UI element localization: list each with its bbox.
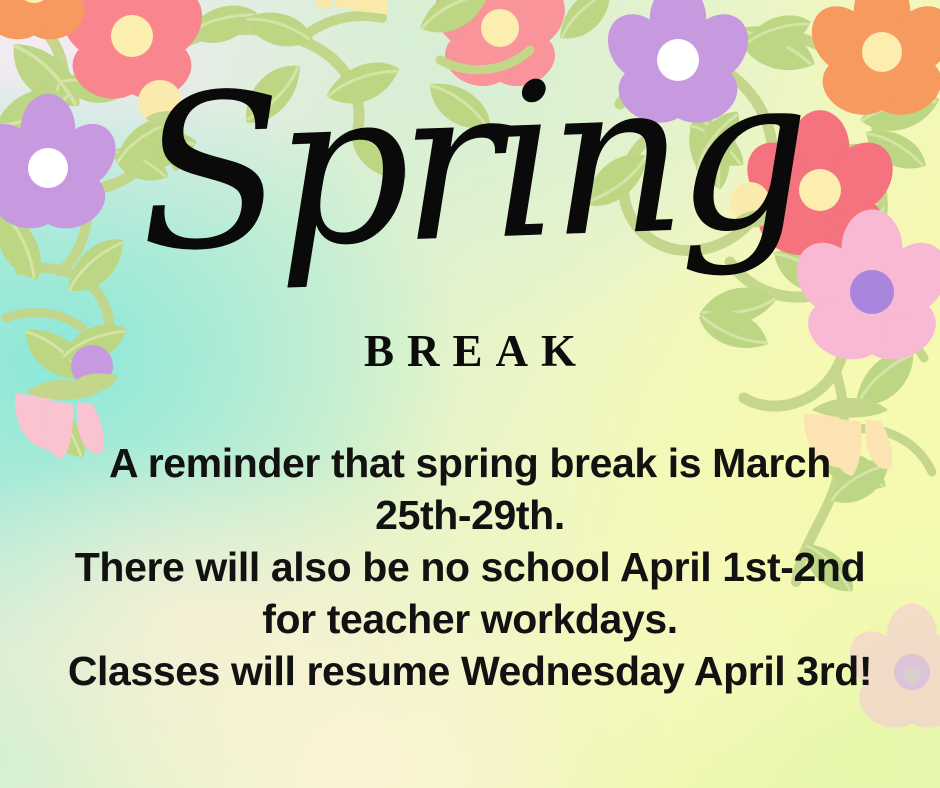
headline-break: BREAK: [0, 325, 940, 377]
message-line-3: There will also be no school April 1st-2…: [14, 541, 926, 593]
message-line-2: 25th-29th.: [14, 489, 926, 541]
announcement-message: A reminder that spring break is March 25…: [14, 437, 926, 697]
message-line-5: Classes will resume Wednesday April 3rd!: [14, 645, 926, 697]
spring-break-poster: Spring BREAK A reminder that spring brea…: [0, 0, 940, 788]
message-line-4: for teacher workdays.: [14, 593, 926, 645]
message-line-1: A reminder that spring break is March: [14, 437, 926, 489]
flower-orange-top-right: [799, 0, 940, 124]
